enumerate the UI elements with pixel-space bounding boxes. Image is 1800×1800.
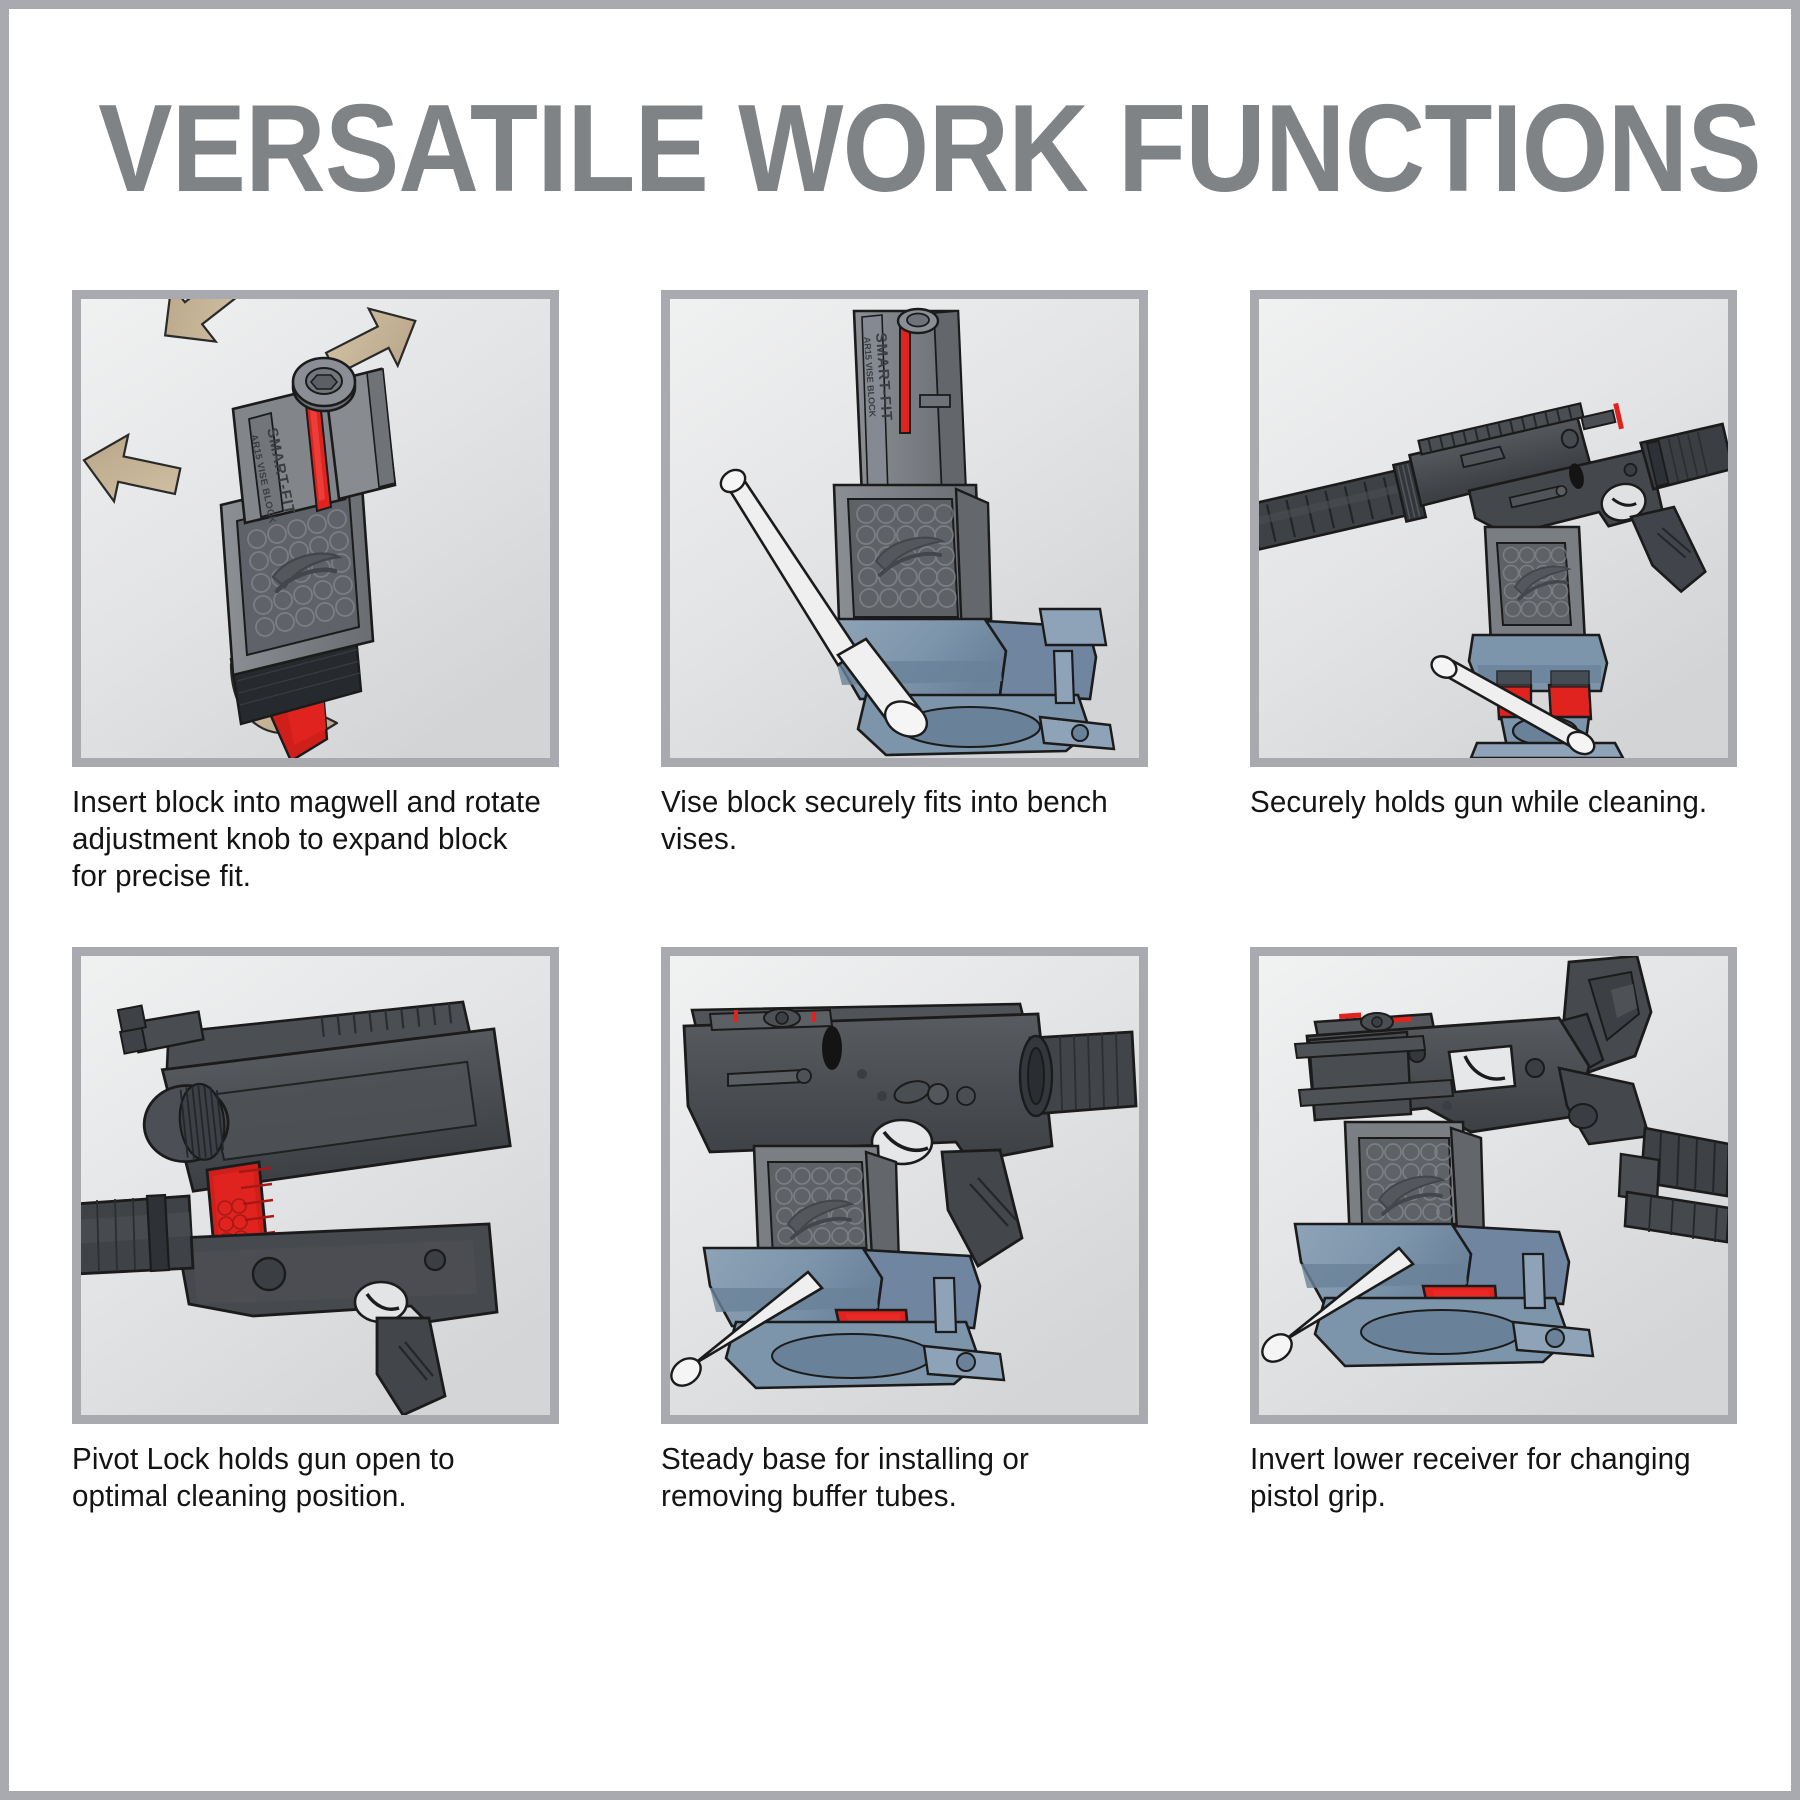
page-title: VERSATILE WORK FUNCTIONS xyxy=(98,87,1702,211)
panel-cell-6: Invert lower receiver for changing pisto… xyxy=(1250,947,1737,1515)
panel-cell-4: Pivot Lock holds gun open to optimal cle… xyxy=(72,947,559,1515)
panel-grid: SMART-FIT AR15 VISE BLOCK xyxy=(72,290,1738,1515)
illustration-insert-block-magwell: SMART-FIT AR15 VISE BLOCK xyxy=(81,299,550,758)
buffer-tube xyxy=(1020,1032,1136,1116)
red-marker-right xyxy=(812,1012,816,1022)
infographic-page: VERSATILE WORK FUNCTIONS xyxy=(0,0,1800,1800)
illustration-pivot-lock xyxy=(81,956,550,1415)
illustration-panel-3 xyxy=(1250,290,1737,767)
adjustment-knob[interactable] xyxy=(898,309,938,333)
caption-panel-6: Invert lower receiver for changing pisto… xyxy=(1250,1441,1722,1515)
panel-cell-1: SMART-FIT AR15 VISE BLOCK xyxy=(72,290,559,895)
smart-fit-vise-block xyxy=(1485,527,1585,643)
panel-cell-3: Securely holds gun while cleaning. xyxy=(1250,290,1737,895)
panel-cell-2: SMART-FIT AR15 VISE BLOCK xyxy=(661,290,1148,895)
illustration-panel-5 xyxy=(661,947,1148,1424)
illustration-panel-6 xyxy=(1250,947,1737,1424)
red-expansion-rail xyxy=(900,321,910,433)
caption-panel-3: Securely holds gun while cleaning. xyxy=(1250,784,1722,821)
illustration-block-in-bench-vise: SMART-FIT AR15 VISE BLOCK xyxy=(670,299,1139,758)
red-marker-left xyxy=(734,1010,738,1022)
takedown-pin xyxy=(822,1026,842,1070)
illustration-rifle-on-vise-block xyxy=(1259,299,1728,758)
illustration-invert-lower-change-grip xyxy=(1259,956,1728,1415)
illustration-buffer-tube-install xyxy=(670,956,1139,1415)
caption-panel-5: Steady base for installing or removing b… xyxy=(661,1441,1133,1515)
panel-cell-5: Steady base for installing or removing b… xyxy=(661,947,1148,1515)
illustration-panel-2: SMART-FIT AR15 VISE BLOCK xyxy=(661,290,1148,767)
caption-panel-1: Insert block into magwell and rotate adj… xyxy=(72,784,544,895)
caption-panel-2: Vise block securely fits into bench vise… xyxy=(661,784,1133,858)
buffer-tube-stock xyxy=(81,1195,193,1274)
adjustment-knob[interactable] xyxy=(293,358,355,411)
caption-panel-4: Pivot Lock holds gun open to optimal cle… xyxy=(72,1441,544,1515)
illustration-panel-1: SMART-FIT AR15 VISE BLOCK xyxy=(72,290,559,767)
illustration-panel-4 xyxy=(72,947,559,1424)
